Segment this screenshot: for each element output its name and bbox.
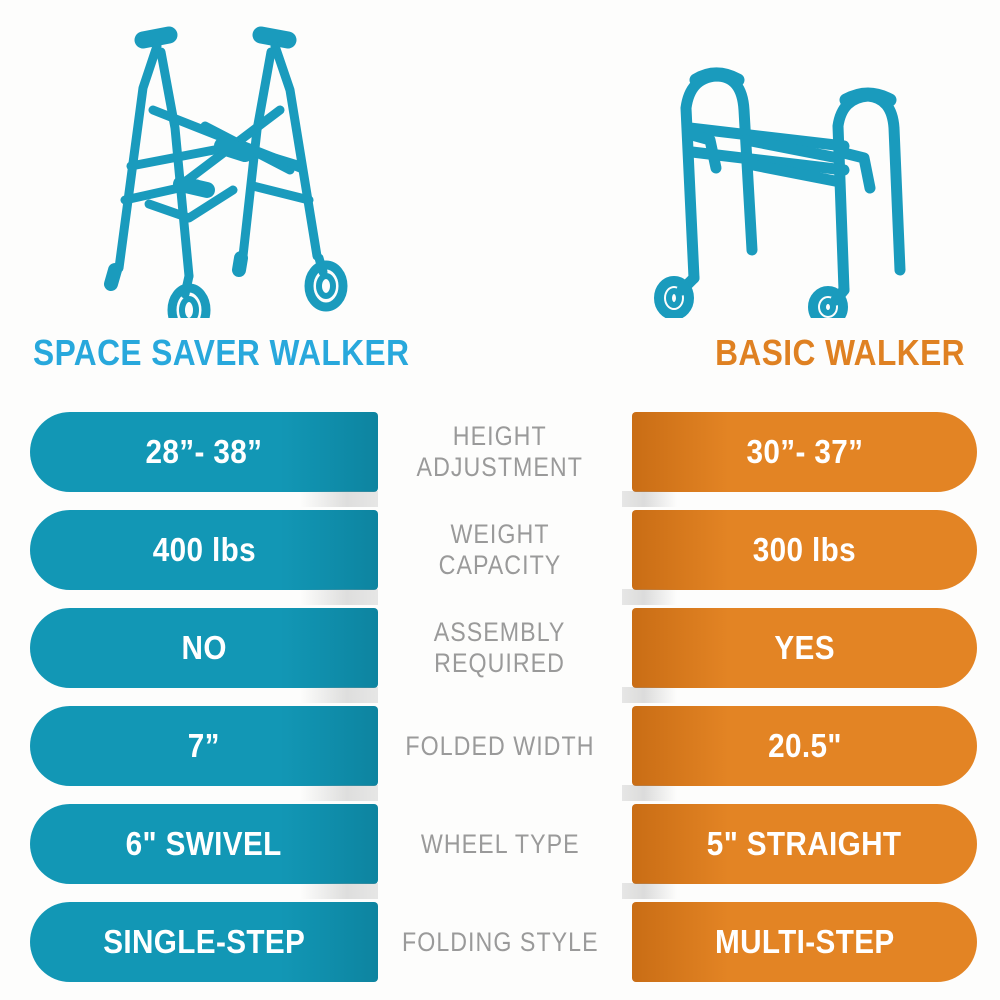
- feature-label-text: ASSEMBLY REQUIRED: [434, 617, 566, 679]
- left-value-text: 28”- 38”: [146, 435, 263, 469]
- right-value-text: MULTI-STEP: [715, 925, 895, 959]
- right-value-text: YES: [774, 631, 835, 665]
- product-title-left: SPACE SAVER WALKER: [33, 330, 409, 376]
- left-value-text: SINGLE-STEP: [103, 925, 305, 959]
- right-value-text: 5" STRAIGHT: [707, 827, 902, 861]
- right-value-text: 20.5": [768, 729, 842, 763]
- feature-label: FOLDED WIDTH: [380, 699, 620, 793]
- folded-walker-icon: [85, 18, 375, 318]
- left-value-text: NO: [181, 631, 226, 665]
- right-value-bar: 30”- 37”: [632, 412, 977, 492]
- product-title-right: BASIC WALKER: [715, 330, 965, 376]
- feature-label-text: WHEEL TYPE: [421, 829, 580, 860]
- feature-label: WHEEL TYPE: [380, 797, 620, 891]
- left-value-text: 7”: [188, 729, 220, 763]
- feature-label-text: WEIGHT CAPACITY: [397, 519, 603, 581]
- feature-label: ASSEMBLY REQUIRED: [380, 601, 620, 695]
- left-value-bar: 400 lbs: [30, 510, 378, 590]
- left-value-bar: 7”: [30, 706, 378, 786]
- right-value-bar: YES: [632, 608, 977, 688]
- comparison-row: 6" SWIVEL WHEEL TYPE 5" STRAIGHT: [0, 797, 1000, 895]
- feature-label-text: FOLDING STYLE: [402, 927, 599, 958]
- left-value-text: 6" SWIVEL: [126, 827, 282, 861]
- left-value-text: 400 lbs: [152, 533, 255, 567]
- right-value-bar: 300 lbs: [632, 510, 977, 590]
- left-value-bar: NO: [30, 608, 378, 688]
- feature-label: FOLDING STYLE: [380, 895, 620, 989]
- right-value-bar: 5" STRAIGHT: [632, 804, 977, 884]
- illustration-row: [0, 0, 1000, 325]
- feature-label-text: HEIGHT ADJUSTMENT: [417, 421, 583, 483]
- left-value-bar: SINGLE-STEP: [30, 902, 378, 982]
- comparison-row: 28”- 38” HEIGHT ADJUSTMENT 30”- 37”: [0, 405, 1000, 503]
- comparison-row: 7” FOLDED WIDTH 20.5": [0, 699, 1000, 797]
- basic-walker-icon: [630, 18, 930, 318]
- right-value-bar: 20.5": [632, 706, 977, 786]
- comparison-rows: 28”- 38” HEIGHT ADJUSTMENT 30”- 37” 400 …: [0, 405, 1000, 995]
- comparison-row: 400 lbs WEIGHT CAPACITY 300 lbs: [0, 503, 1000, 601]
- right-value-text: 300 lbs: [753, 533, 856, 567]
- comparison-row: SINGLE-STEP FOLDING STYLE MULTI-STEP: [0, 895, 1000, 993]
- column-headings: SPACE SAVER WALKER BASIC WALKER: [0, 330, 1000, 386]
- walker-comparison-infographic: SPACE SAVER WALKER BASIC WALKER 28”- 38”…: [0, 0, 1000, 1000]
- feature-label: WEIGHT CAPACITY: [380, 503, 620, 597]
- left-value-bar: 6" SWIVEL: [30, 804, 378, 884]
- left-value-bar: 28”- 38”: [30, 412, 378, 492]
- feature-label-text: FOLDED WIDTH: [405, 731, 594, 762]
- comparison-row: NO ASSEMBLY REQUIRED YES: [0, 601, 1000, 699]
- right-value-text: 30”- 37”: [746, 435, 863, 469]
- feature-label: HEIGHT ADJUSTMENT: [380, 405, 620, 499]
- right-value-bar: MULTI-STEP: [632, 902, 977, 982]
